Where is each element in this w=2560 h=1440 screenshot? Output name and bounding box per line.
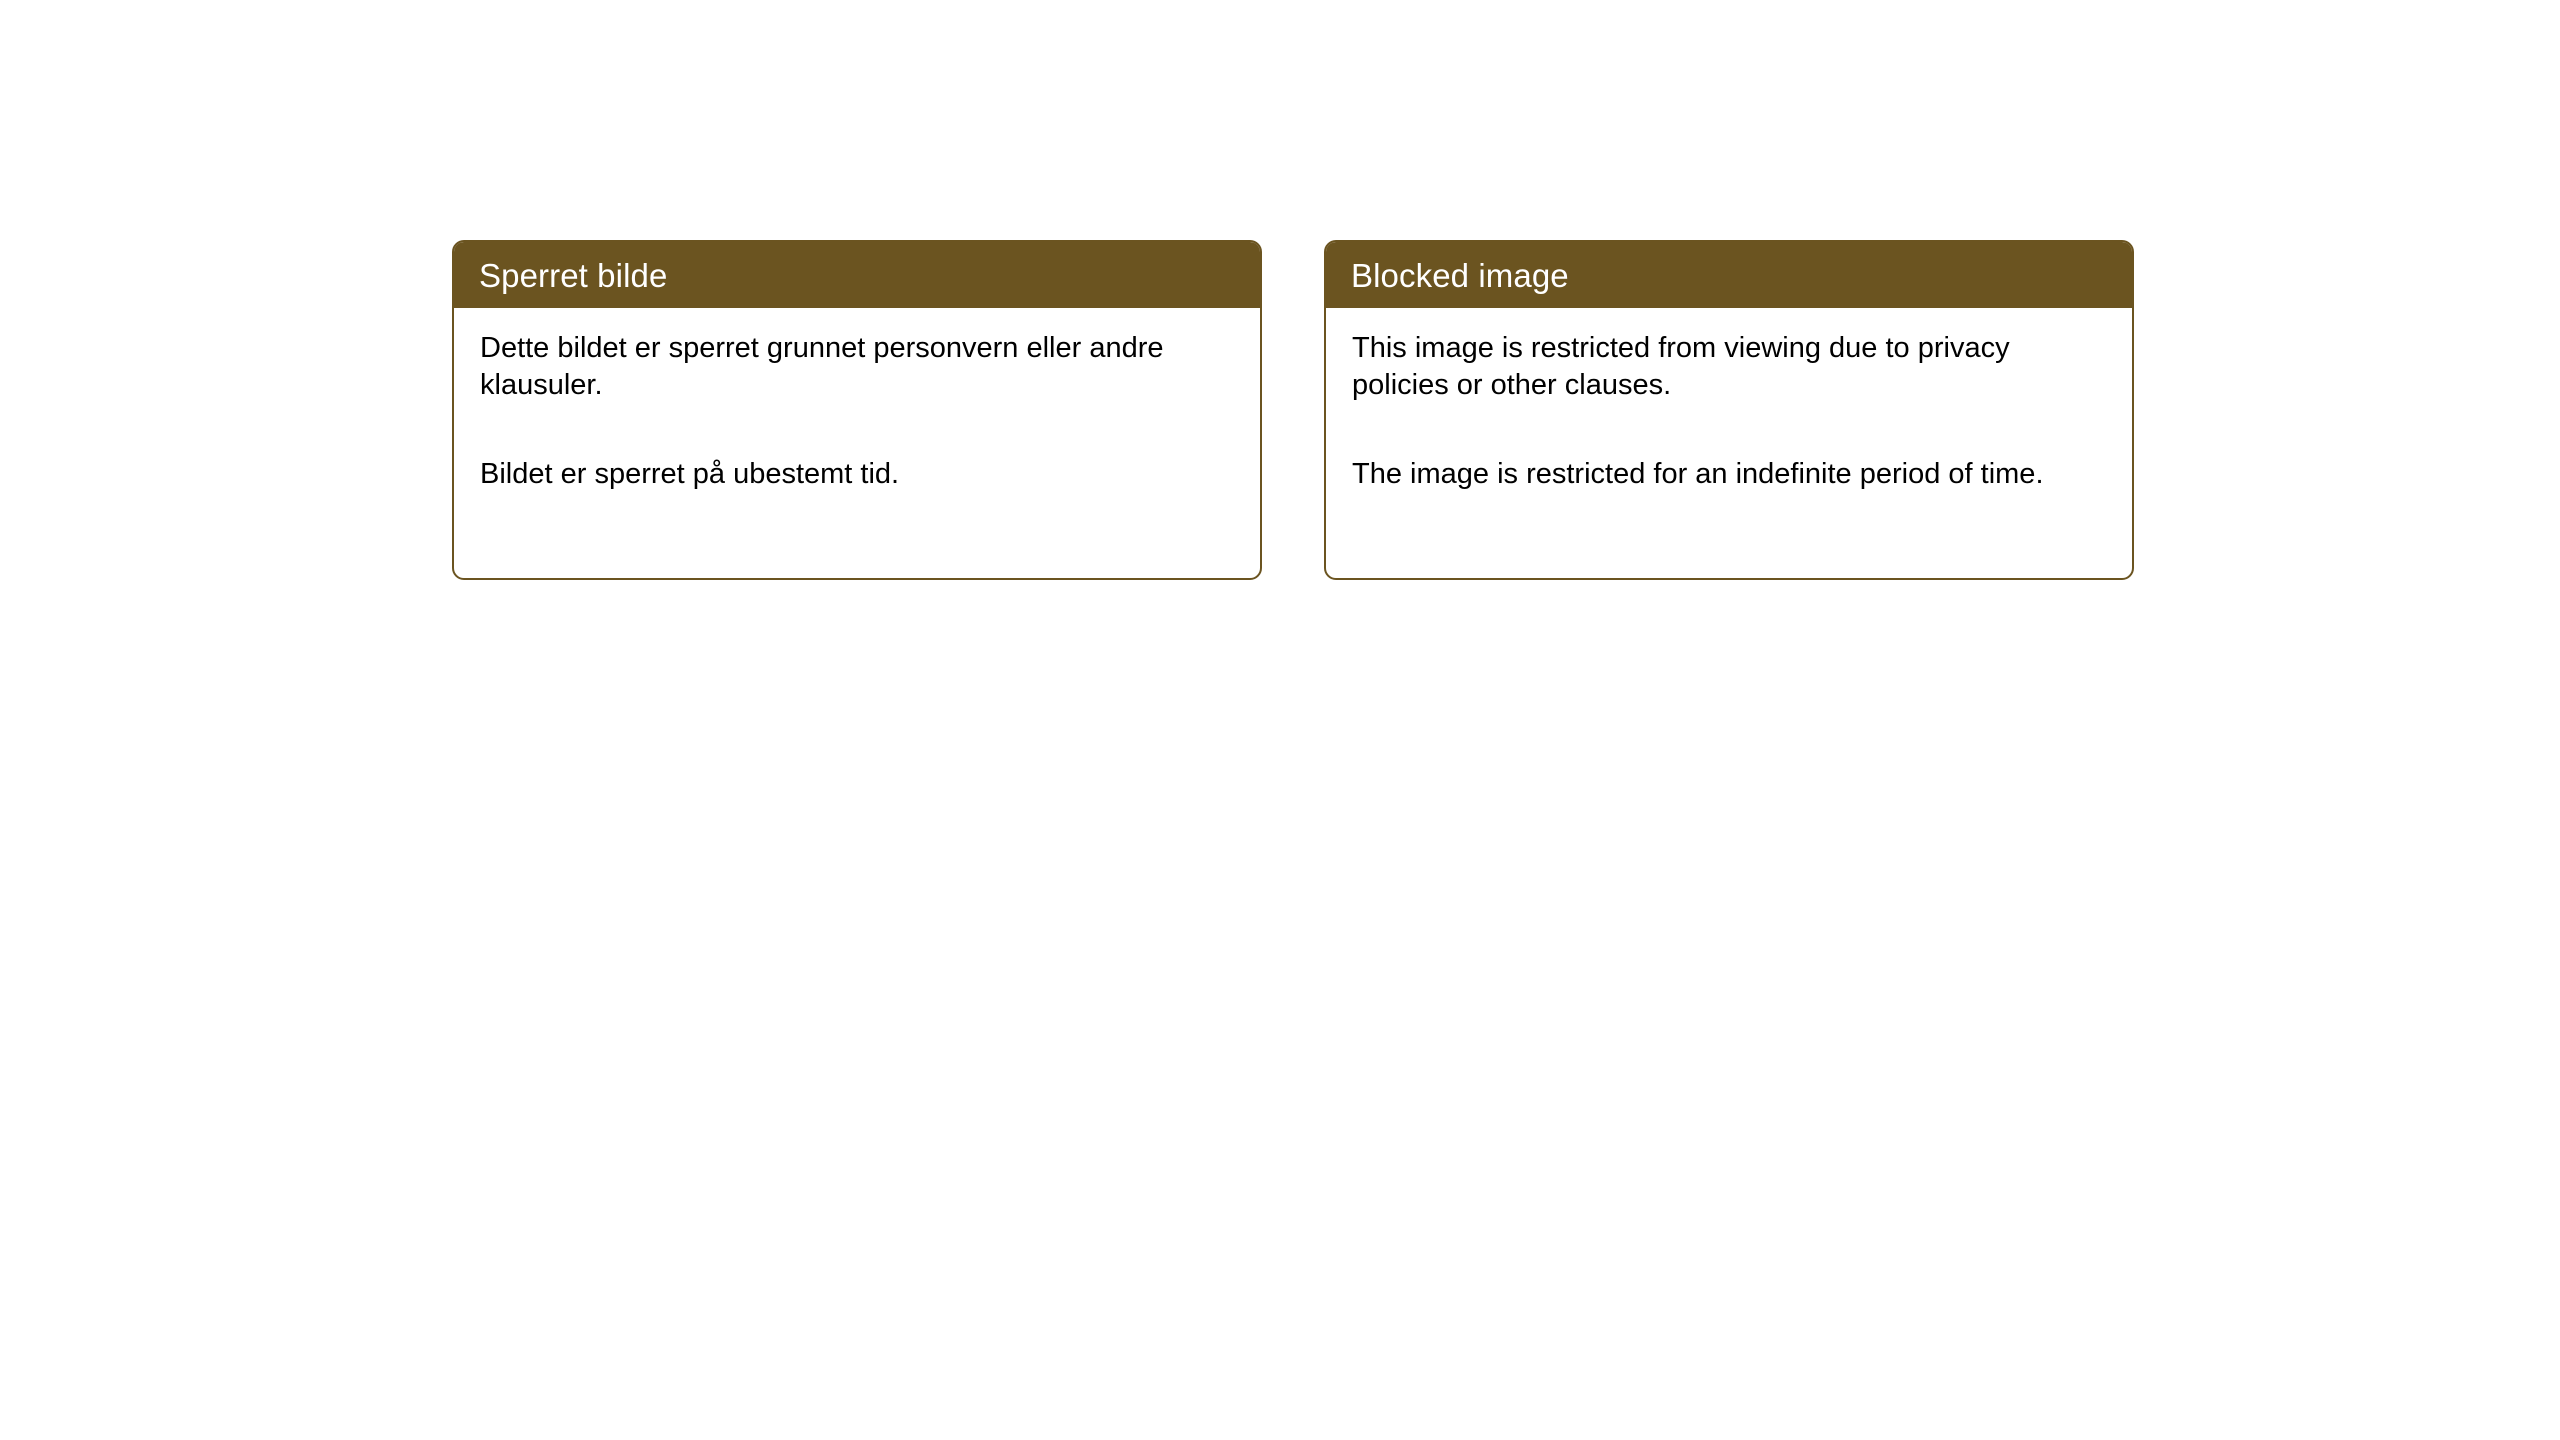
blocked-image-notices: Sperret bilde Dette bildet er sperret gr… [452, 240, 2134, 580]
page-root: { "page": { "background_color": "#ffffff… [0, 0, 2560, 1440]
card-body-english: This image is restricted from viewing du… [1326, 308, 2132, 578]
card-paragraph-duration-english: The image is restricted for an indefinit… [1352, 456, 2106, 493]
blocked-image-card-norwegian: Sperret bilde Dette bildet er sperret gr… [452, 240, 1262, 580]
card-title-norwegian: Sperret bilde [454, 242, 1260, 308]
card-paragraph-reason-english: This image is restricted from viewing du… [1352, 330, 2106, 404]
card-body-norwegian: Dette bildet er sperret grunnet personve… [454, 308, 1260, 578]
card-paragraph-duration-norwegian: Bildet er sperret på ubestemt tid. [480, 456, 1234, 493]
card-paragraph-reason-norwegian: Dette bildet er sperret grunnet personve… [480, 330, 1234, 404]
blocked-image-card-english: Blocked image This image is restricted f… [1324, 240, 2134, 580]
card-title-english: Blocked image [1326, 242, 2132, 308]
